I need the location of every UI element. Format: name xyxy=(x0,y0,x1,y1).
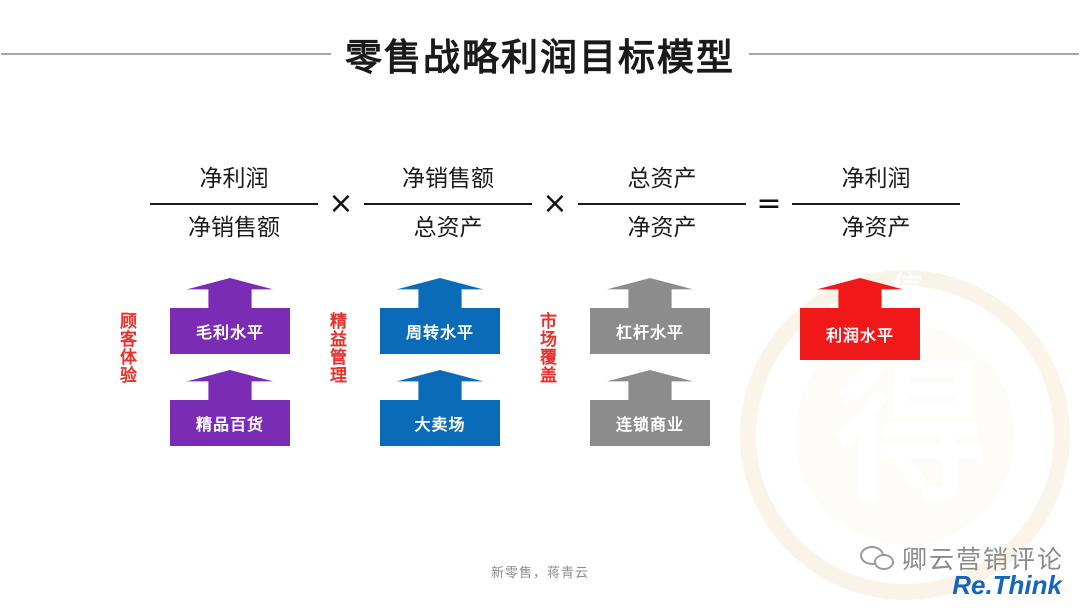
fraction-denominator: 净销售额 xyxy=(188,211,280,245)
fraction-numerator: 总资产 xyxy=(627,162,696,196)
pillar-profit: 利润水平 xyxy=(760,278,960,463)
fraction-term-3: 总资产 净资产 xyxy=(578,162,746,245)
fraction-denominator: 总资产 xyxy=(413,211,482,245)
fraction-denominator: 净资产 xyxy=(627,211,696,245)
fraction-numerator: 净销售额 xyxy=(402,162,494,196)
fraction-bar xyxy=(792,203,960,205)
flag-box-top[interactable]: 利润水平 xyxy=(800,278,920,360)
formula-row: 净利润 净销售额 × 净销售额 总资产 × 总资产 净资产 = 净利润 净资产 xyxy=(150,148,960,258)
slide-title-row: 零售战略利润目标模型 xyxy=(0,24,1080,84)
flag-label: 杠杆水平 xyxy=(616,319,684,343)
page-title: 零售战略利润目标模型 xyxy=(331,27,749,81)
up-arrow-icon xyxy=(590,278,710,308)
brand-watermark: 卿云营销评论 Re.Think xyxy=(794,540,1064,602)
title-rule-left xyxy=(1,53,331,55)
flag-label: 利润水平 xyxy=(826,322,894,346)
pillar-gross-margin: 毛利水平 精品百货 xyxy=(130,278,330,463)
fraction-term-1: 净利润 净销售额 xyxy=(150,162,318,245)
fraction-bar xyxy=(578,203,746,205)
pillar-turnover: 周转水平 大卖场 xyxy=(340,278,540,463)
up-arrow-icon xyxy=(170,278,290,308)
pillar-leverage: 杠杆水平 连锁商业 xyxy=(550,278,750,463)
pillar-group: 顾客体验 精益管理 市场覆盖 毛利水平 精品百货 周转水 xyxy=(130,278,950,463)
fraction-numerator: 净利润 xyxy=(841,162,910,196)
flag-body: 大卖场 xyxy=(380,400,500,446)
slide-canvas: 信 得 零售战略利润目标模型 净利润 净销售额 × 净销售额 总资产 × 总资产… xyxy=(0,0,1080,608)
fraction-bar xyxy=(150,203,318,205)
flag-label: 精品百货 xyxy=(196,411,264,435)
flag-box-top[interactable]: 杠杆水平 xyxy=(590,278,710,354)
up-arrow-icon xyxy=(380,278,500,308)
flag-body: 利润水平 xyxy=(800,308,920,360)
flag-body: 连锁商业 xyxy=(590,400,710,446)
fraction-term-2: 净销售额 总资产 xyxy=(364,162,532,245)
flag-label: 大卖场 xyxy=(414,411,465,435)
fraction-term-4: 净利润 净资产 xyxy=(792,162,960,245)
wechat-icon xyxy=(860,546,894,570)
flag-box-top[interactable]: 周转水平 xyxy=(380,278,500,354)
brand-name-en: Re.Think xyxy=(952,570,1062,601)
operator-equals: = xyxy=(754,189,783,219)
fraction-bar xyxy=(364,203,532,205)
flag-body: 精品百货 xyxy=(170,400,290,446)
flag-body: 毛利水平 xyxy=(170,308,290,354)
flag-box-bottom[interactable]: 大卖场 xyxy=(380,370,500,446)
flag-label: 毛利水平 xyxy=(196,319,264,343)
flag-body: 杠杆水平 xyxy=(590,308,710,354)
fraction-denominator: 净资产 xyxy=(841,211,910,245)
flag-box-top[interactable]: 毛利水平 xyxy=(170,278,290,354)
flag-label: 周转水平 xyxy=(406,319,474,343)
flag-label: 连锁商业 xyxy=(616,411,684,435)
flag-box-bottom[interactable]: 连锁商业 xyxy=(590,370,710,446)
operator-multiply-2: × xyxy=(540,189,569,219)
up-arrow-icon xyxy=(800,278,920,308)
operator-multiply-1: × xyxy=(326,189,355,219)
up-arrow-icon xyxy=(590,370,710,400)
fraction-numerator: 净利润 xyxy=(200,162,269,196)
up-arrow-icon xyxy=(380,370,500,400)
up-arrow-icon xyxy=(170,370,290,400)
flag-box-bottom[interactable]: 精品百货 xyxy=(170,370,290,446)
flag-body: 周转水平 xyxy=(380,308,500,354)
title-rule-right xyxy=(749,53,1079,55)
